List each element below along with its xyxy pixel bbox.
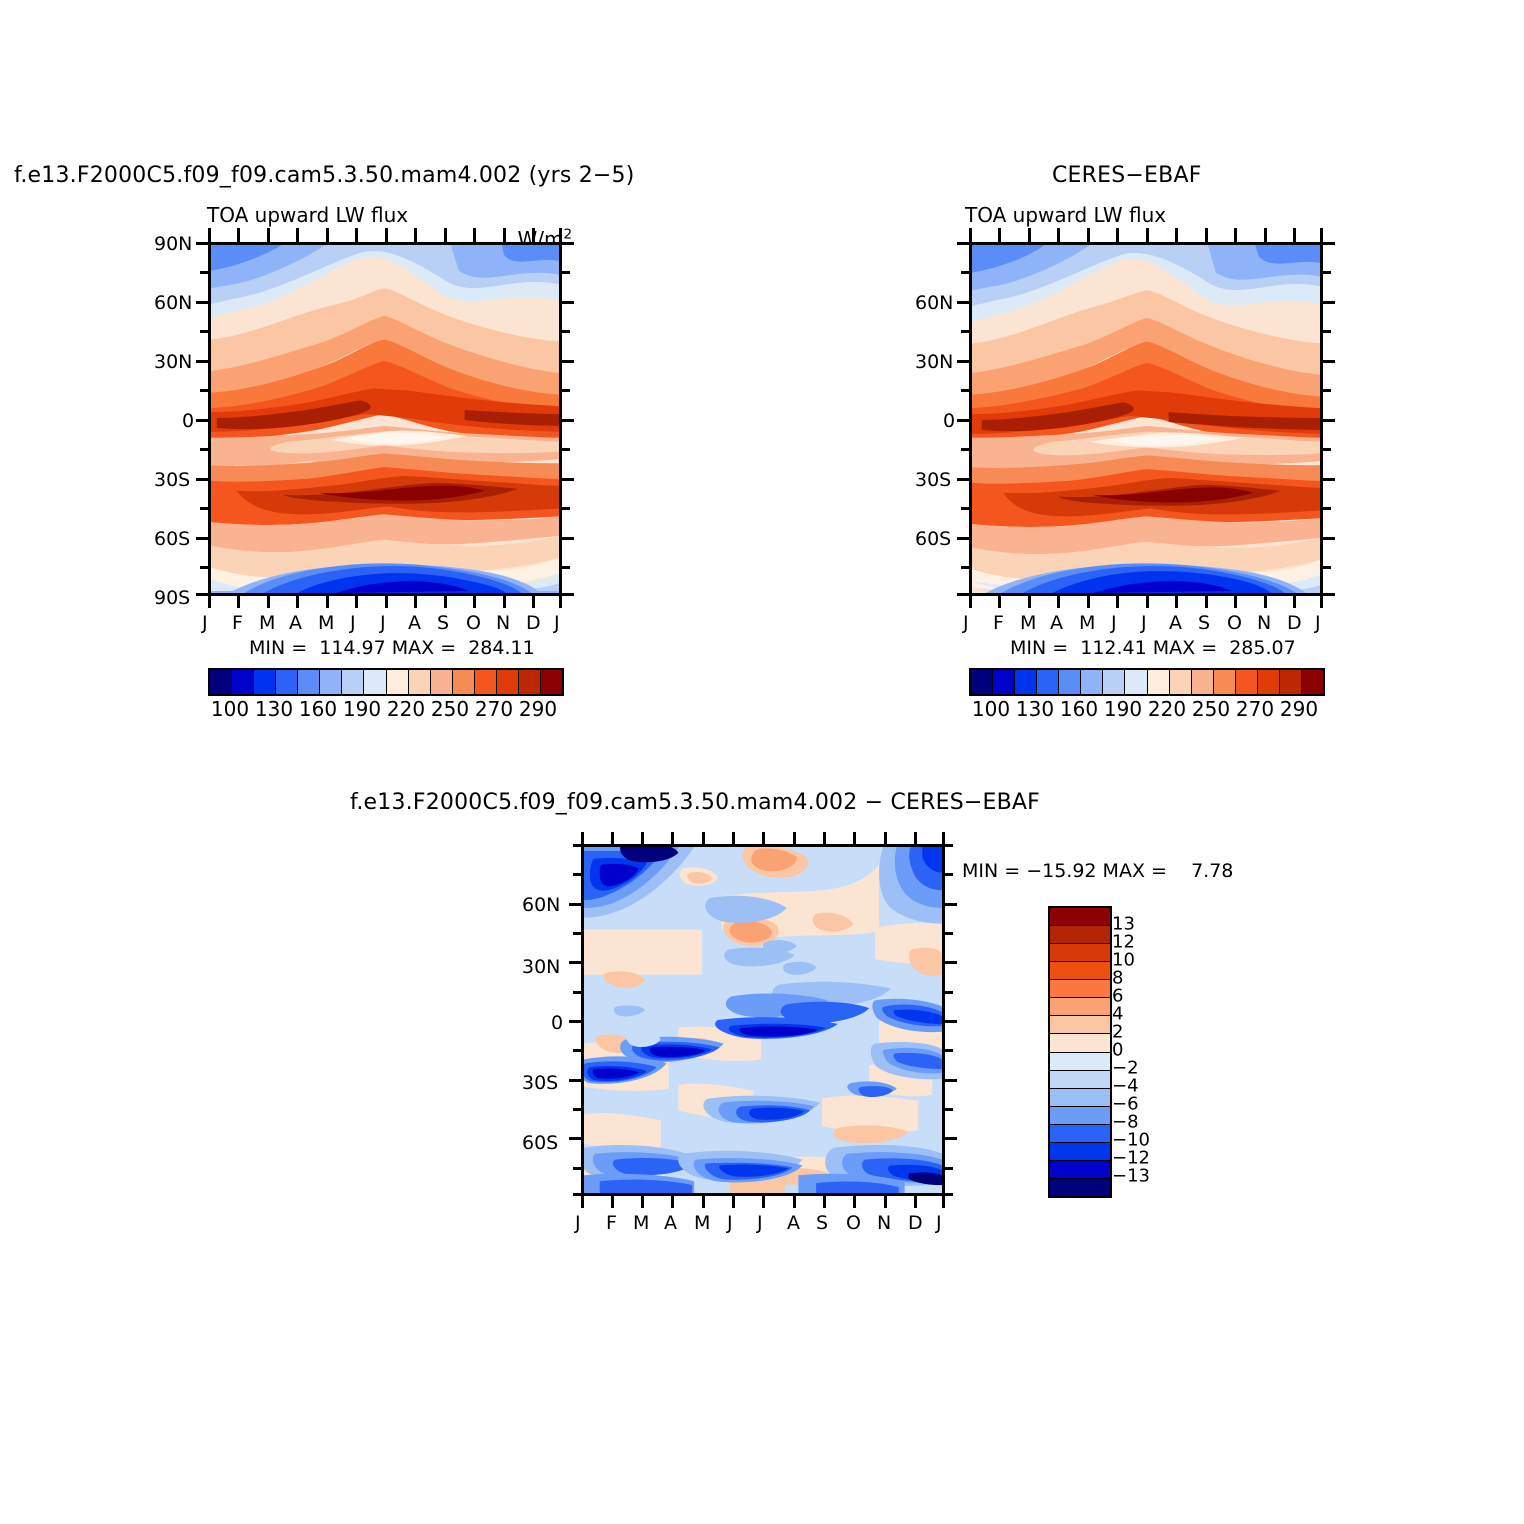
- tick: [562, 448, 570, 451]
- tick: [957, 478, 969, 481]
- model-xaxis-bottom-ticks: [208, 596, 562, 608]
- tick: [200, 507, 208, 510]
- colorbar-tick-label: 290: [519, 697, 557, 721]
- diff-xlabel-4: M: [694, 1212, 710, 1234]
- obs-xlabel-8: S: [1198, 612, 1210, 634]
- diff-colorbar: [1048, 906, 1112, 1198]
- model-ylabel-60n: 60N: [154, 292, 192, 314]
- colorbar-tick-label: 220: [1148, 697, 1186, 721]
- colorbar-cell: [1050, 980, 1110, 998]
- tick: [503, 228, 506, 242]
- tick: [1057, 228, 1060, 242]
- tick: [200, 448, 208, 451]
- model-xlabel-1: F: [232, 612, 243, 634]
- tick: [237, 596, 240, 608]
- tick: [762, 1196, 765, 1208]
- obs-xlabel-10: N: [1257, 612, 1271, 634]
- tick: [1116, 596, 1119, 608]
- model-contour-plot: [208, 242, 562, 596]
- tick: [1323, 478, 1335, 481]
- tick: [1205, 228, 1208, 242]
- obs-xlabel-11: D: [1287, 612, 1302, 634]
- tick: [569, 961, 581, 964]
- model-variable-label: TOA upward LW flux: [207, 203, 408, 227]
- obs-xlabel-6: J: [1141, 612, 1147, 634]
- colorbar-tick-label: 290: [1280, 697, 1318, 721]
- tick: [196, 537, 208, 540]
- obs-xlabel-0: J: [963, 612, 969, 634]
- colorbar-cell: [1050, 962, 1110, 980]
- colorbar-cell: [232, 670, 254, 694]
- tick: [267, 596, 270, 608]
- tick: [884, 832, 887, 844]
- panel-obs: CERES−EBAF TOA upward LW flux 60N 30N 0 …: [760, 0, 1524, 760]
- model-xlabel-5: J: [350, 612, 356, 634]
- tick: [200, 566, 208, 569]
- colorbar-cell: [1050, 998, 1110, 1016]
- tick: [1234, 228, 1237, 242]
- tick: [208, 596, 211, 608]
- tick: [573, 1108, 581, 1111]
- model-xlabel-4: M: [318, 612, 334, 634]
- model-ylabel-90s: 90S: [154, 587, 190, 609]
- tick: [562, 330, 570, 333]
- model-contour-svg: [211, 245, 559, 593]
- diff-xaxis-bottom-ticks: [581, 1196, 945, 1208]
- model-xlabel-8: S: [437, 612, 449, 634]
- tick: [1323, 389, 1331, 392]
- tick: [562, 389, 570, 392]
- tick: [1175, 596, 1178, 608]
- tick: [671, 832, 674, 844]
- colorbar-cell: [1050, 926, 1110, 944]
- colorbar-cell: [1103, 670, 1125, 694]
- model-minmax-text: MIN = 114.97 MAX = 284.11: [249, 637, 535, 659]
- diff-panel-title: f.e13.F2000C5.f09_f09.cam5.3.50.mam4.002…: [350, 790, 1040, 815]
- tick: [1116, 228, 1119, 242]
- colorbar-cell: [1050, 944, 1110, 962]
- colorbar-cell: [1050, 1125, 1110, 1143]
- model-ylabel-90n: 90N: [154, 233, 192, 255]
- tick: [914, 832, 917, 844]
- obs-contour-svg: [972, 245, 1320, 593]
- colorbar-cell: [1302, 670, 1323, 694]
- tick: [823, 1196, 826, 1208]
- tick: [267, 228, 270, 242]
- tick: [1146, 228, 1149, 242]
- tick: [945, 1108, 953, 1111]
- tick: [196, 593, 208, 596]
- tick: [961, 271, 969, 274]
- obs-ylabel-30s: 30S: [915, 469, 951, 491]
- model-yaxis-left-ticks: [196, 242, 208, 596]
- colorbar-tick-label: 270: [1236, 697, 1274, 721]
- colorbar-cell: [1050, 1071, 1110, 1089]
- tick: [1057, 596, 1060, 608]
- tick: [914, 1196, 917, 1208]
- tick: [385, 596, 388, 608]
- obs-variable-label: TOA upward LW flux: [965, 203, 1166, 227]
- colorbar-cell: [971, 670, 993, 694]
- colorbar-cell: [409, 670, 431, 694]
- tick: [1323, 271, 1331, 274]
- colorbar-cell: [387, 670, 409, 694]
- tick: [823, 832, 826, 844]
- colorbar-tick-label: 130: [1016, 697, 1054, 721]
- tick: [562, 419, 574, 422]
- tick: [562, 271, 570, 274]
- tick: [998, 228, 1001, 242]
- tick: [945, 961, 957, 964]
- tick: [945, 991, 953, 994]
- tick: [573, 844, 581, 847]
- tick: [998, 596, 1001, 608]
- model-colorbar: [208, 668, 564, 696]
- panel-difference: f.e13.F2000C5.f09_f09.cam5.3.50.mam4.002…: [0, 760, 1524, 1320]
- tick: [945, 1193, 953, 1196]
- tick: [581, 1196, 584, 1208]
- colorbar-cell: [1081, 670, 1103, 694]
- tick: [355, 228, 358, 242]
- tick: [562, 507, 570, 510]
- model-ylabel-0: 0: [182, 410, 194, 432]
- model-panel-title: f.e13.F2000C5.f09_f09.cam5.3.50.mam4.002…: [14, 163, 635, 188]
- diff-ylabel-60s: 60S: [522, 1132, 558, 1154]
- obs-xlabel-1: F: [993, 612, 1004, 634]
- colorbar-cell: [210, 670, 232, 694]
- colorbar-tick-label: 160: [1060, 697, 1098, 721]
- colorbar-cell: [364, 670, 386, 694]
- model-xaxis-labels: J F M A M J J A S O N D J: [208, 612, 562, 636]
- colorbar-cell: [497, 670, 519, 694]
- obs-xlabel-5: J: [1111, 612, 1117, 634]
- diff-ylabel-60n: 60N: [522, 894, 560, 916]
- tick: [562, 360, 574, 363]
- model-xlabel-3: A: [289, 612, 302, 634]
- colorbar-cell: [1214, 670, 1236, 694]
- tick: [196, 360, 208, 363]
- colorbar-cell: [276, 670, 298, 694]
- model-xlabel-9: O: [466, 612, 481, 634]
- tick: [961, 389, 969, 392]
- tick: [945, 873, 953, 876]
- tick: [326, 596, 329, 608]
- tick: [611, 832, 614, 844]
- tick: [945, 844, 953, 847]
- tick: [196, 301, 208, 304]
- model-ylabel-60s: 60S: [154, 528, 190, 550]
- tick: [1175, 228, 1178, 242]
- tick: [562, 566, 570, 569]
- diff-xaxis-top-ticks: [581, 832, 945, 844]
- tick: [961, 448, 969, 451]
- model-ylabel-30n: 30N: [154, 351, 192, 373]
- obs-panel-title: CERES−EBAF: [1052, 163, 1202, 188]
- tick: [355, 596, 358, 608]
- tick: [196, 242, 208, 245]
- tick: [562, 478, 574, 481]
- obs-contour-plot: [969, 242, 1323, 596]
- obs-xaxis-labels: J F M A M J J A S O N D J: [969, 612, 1323, 636]
- colorbar-cell: [320, 670, 342, 694]
- tick: [569, 1079, 581, 1082]
- obs-ylabel-60n: 60N: [915, 292, 953, 314]
- tick: [702, 832, 705, 844]
- tick: [385, 228, 388, 242]
- tick: [957, 360, 969, 363]
- model-units-exponent: 2: [563, 226, 572, 242]
- tick: [200, 271, 208, 274]
- obs-ylabel-0: 0: [943, 410, 955, 432]
- tick: [1087, 228, 1090, 242]
- diff-xlabel-11: D: [908, 1212, 923, 1234]
- diff-xlabel-5: J: [727, 1212, 733, 1234]
- tick: [945, 1167, 953, 1170]
- diff-colorbar-labels: 13121086420−2−4−6−8−10−12−13: [1112, 906, 1168, 1194]
- tick: [1323, 507, 1331, 510]
- model-colorbar-labels: 100130160190220250270290: [208, 697, 560, 723]
- tick: [532, 596, 535, 608]
- obs-xlabel-4: M: [1079, 612, 1095, 634]
- tick: [762, 832, 765, 844]
- diff-yaxis-right-ticks: [945, 844, 957, 1196]
- tick: [196, 478, 208, 481]
- diff-ylabel-30n: 30N: [522, 956, 560, 978]
- tick: [562, 301, 574, 304]
- tick: [853, 1196, 856, 1208]
- tick: [562, 242, 574, 245]
- tick: [793, 832, 796, 844]
- tick: [200, 330, 208, 333]
- tick: [957, 301, 969, 304]
- tick: [702, 1196, 705, 1208]
- colorbar-tick-label: 250: [431, 697, 469, 721]
- tick: [957, 537, 969, 540]
- diff-xlabel-7: A: [787, 1212, 800, 1234]
- colorbar-tick-label: 220: [387, 697, 425, 721]
- tick: [1293, 228, 1296, 242]
- colorbar-cell: [254, 670, 276, 694]
- tick: [969, 596, 972, 608]
- colorbar-cell: [1050, 1161, 1110, 1179]
- model-xlabel-2: M: [259, 612, 275, 634]
- colorbar-tick-label: 250: [1192, 697, 1230, 721]
- colorbar-cell: [1050, 1034, 1110, 1052]
- diff-ylabel-0: 0: [551, 1012, 563, 1034]
- tick: [569, 1137, 581, 1140]
- obs-xaxis-top-ticks: [969, 228, 1323, 242]
- tick: [573, 873, 581, 876]
- tick: [573, 1049, 581, 1052]
- tick: [444, 596, 447, 608]
- diff-contour-svg: [584, 847, 942, 1193]
- tick: [732, 832, 735, 844]
- tick: [573, 991, 581, 994]
- colorbar-tick-label: −13: [1112, 1166, 1158, 1187]
- colorbar-cell: [1258, 670, 1280, 694]
- diff-minmax-text: MIN = −15.92 MAX = 7.78: [962, 860, 1233, 882]
- model-xlabel-11: D: [526, 612, 541, 634]
- model-xlabel-7: A: [408, 612, 421, 634]
- colorbar-cell: [1192, 670, 1214, 694]
- panel-model: f.e13.F2000C5.f09_f09.cam5.3.50.mam4.002…: [0, 0, 760, 760]
- colorbar-tick-label: 190: [343, 697, 381, 721]
- tick: [1087, 596, 1090, 608]
- tick: [1320, 228, 1323, 242]
- tick: [1264, 596, 1267, 608]
- tick: [1205, 596, 1208, 608]
- colorbar-cell: [453, 670, 475, 694]
- obs-xlabel-9: O: [1227, 612, 1242, 634]
- colorbar-tick-label: 100: [972, 697, 1010, 721]
- tick: [444, 228, 447, 242]
- tick: [200, 389, 208, 392]
- colorbar-cell: [298, 670, 320, 694]
- colorbar-cell: [1050, 908, 1110, 926]
- obs-xlabel-7: A: [1169, 612, 1182, 634]
- diff-xlabel-6: J: [757, 1212, 763, 1234]
- tick: [884, 1196, 887, 1208]
- tick: [1323, 242, 1335, 245]
- tick: [957, 419, 969, 422]
- colorbar-cell: [1037, 670, 1059, 694]
- tick: [562, 537, 574, 540]
- tick: [532, 228, 535, 242]
- tick: [1293, 596, 1296, 608]
- colorbar-cell: [1059, 670, 1081, 694]
- colorbar-cell: [1125, 670, 1147, 694]
- colorbar-cell: [1050, 1107, 1110, 1125]
- diff-xlabel-9: O: [846, 1212, 861, 1234]
- tick: [1323, 448, 1331, 451]
- colorbar-cell: [1050, 1016, 1110, 1034]
- tick: [945, 932, 953, 935]
- tick: [671, 1196, 674, 1208]
- diff-xlabel-2: M: [633, 1212, 649, 1234]
- tick: [559, 228, 562, 242]
- tick: [641, 1196, 644, 1208]
- tick: [961, 507, 969, 510]
- colorbar-cell: [1170, 670, 1192, 694]
- tick: [573, 1167, 581, 1170]
- tick: [296, 228, 299, 242]
- tick: [641, 832, 644, 844]
- colorbar-cell: [1050, 1089, 1110, 1107]
- colorbar-tick-label: 130: [255, 697, 293, 721]
- obs-colorbar: [969, 668, 1325, 696]
- colorbar-cell: [1280, 670, 1302, 694]
- tick: [611, 1196, 614, 1208]
- colorbar-cell: [993, 670, 1015, 694]
- tick: [957, 242, 969, 245]
- colorbar-tick-label: 100: [211, 697, 249, 721]
- tick: [581, 832, 584, 844]
- tick: [1234, 596, 1237, 608]
- tick: [503, 596, 506, 608]
- tick: [326, 228, 329, 242]
- tick: [1028, 228, 1031, 242]
- tick: [296, 596, 299, 608]
- model-ylabel-30s: 30S: [154, 469, 190, 491]
- tick: [1264, 228, 1267, 242]
- tick: [1146, 596, 1149, 608]
- obs-yaxis-right-ticks: [1323, 242, 1335, 596]
- tick: [1323, 593, 1335, 596]
- tick: [573, 1193, 581, 1196]
- tick: [1323, 419, 1335, 422]
- tick: [945, 1020, 957, 1023]
- tick: [945, 1049, 953, 1052]
- obs-minmax-text: MIN = 112.41 MAX = 285.07: [1010, 637, 1296, 659]
- colorbar-cell: [431, 670, 453, 694]
- tick: [573, 932, 581, 935]
- colorbar-tick-label: 160: [299, 697, 337, 721]
- model-xlabel-12: J: [554, 612, 560, 634]
- obs-ylabel-30n: 30N: [915, 351, 953, 373]
- colorbar-cell: [1050, 1179, 1110, 1196]
- obs-colorbar-labels: 100130160190220250270290: [969, 697, 1321, 723]
- tick: [1028, 596, 1031, 608]
- tick: [732, 1196, 735, 1208]
- model-xlabel-6: J: [380, 612, 386, 634]
- obs-xlabel-12: J: [1315, 612, 1321, 634]
- colorbar-cell: [1015, 670, 1037, 694]
- tick: [208, 228, 211, 242]
- tick: [793, 1196, 796, 1208]
- obs-xlabel-2: M: [1020, 612, 1036, 634]
- obs-ylabel-60s: 60S: [915, 528, 951, 550]
- tick: [196, 419, 208, 422]
- obs-xaxis-bottom-ticks: [969, 596, 1323, 608]
- diff-contour-plot: [581, 844, 945, 1196]
- colorbar-cell: [1148, 670, 1170, 694]
- colorbar-tick-label: 270: [475, 697, 513, 721]
- diff-xlabel-3: A: [664, 1212, 677, 1234]
- diff-yaxis-left-ticks: [569, 844, 581, 1196]
- tick: [562, 593, 574, 596]
- tick: [945, 1079, 957, 1082]
- tick: [961, 330, 969, 333]
- colorbar-cell: [1236, 670, 1258, 694]
- tick: [569, 1020, 581, 1023]
- colorbar-cell: [541, 670, 562, 694]
- diff-ylabel-30s: 30S: [522, 1072, 558, 1094]
- tick: [237, 228, 240, 242]
- colorbar-cell: [475, 670, 497, 694]
- tick: [473, 596, 476, 608]
- tick: [942, 1196, 945, 1208]
- diff-xlabel-12: J: [936, 1212, 942, 1234]
- model-xlabel-0: J: [202, 612, 208, 634]
- colorbar-cell: [1050, 1143, 1110, 1161]
- diff-xlabel-10: N: [877, 1212, 891, 1234]
- tick: [414, 596, 417, 608]
- tick: [1323, 360, 1335, 363]
- colorbar-cell: [519, 670, 541, 694]
- tick: [569, 903, 581, 906]
- tick: [945, 1137, 957, 1140]
- tick: [969, 228, 972, 242]
- diff-xlabel-8: S: [816, 1212, 828, 1234]
- tick: [1323, 537, 1335, 540]
- tick: [942, 832, 945, 844]
- tick: [957, 593, 969, 596]
- obs-yaxis-left-ticks: [957, 242, 969, 596]
- tick: [1323, 301, 1335, 304]
- diff-xlabel-1: F: [606, 1212, 617, 1234]
- tick: [1320, 596, 1323, 608]
- tick: [961, 566, 969, 569]
